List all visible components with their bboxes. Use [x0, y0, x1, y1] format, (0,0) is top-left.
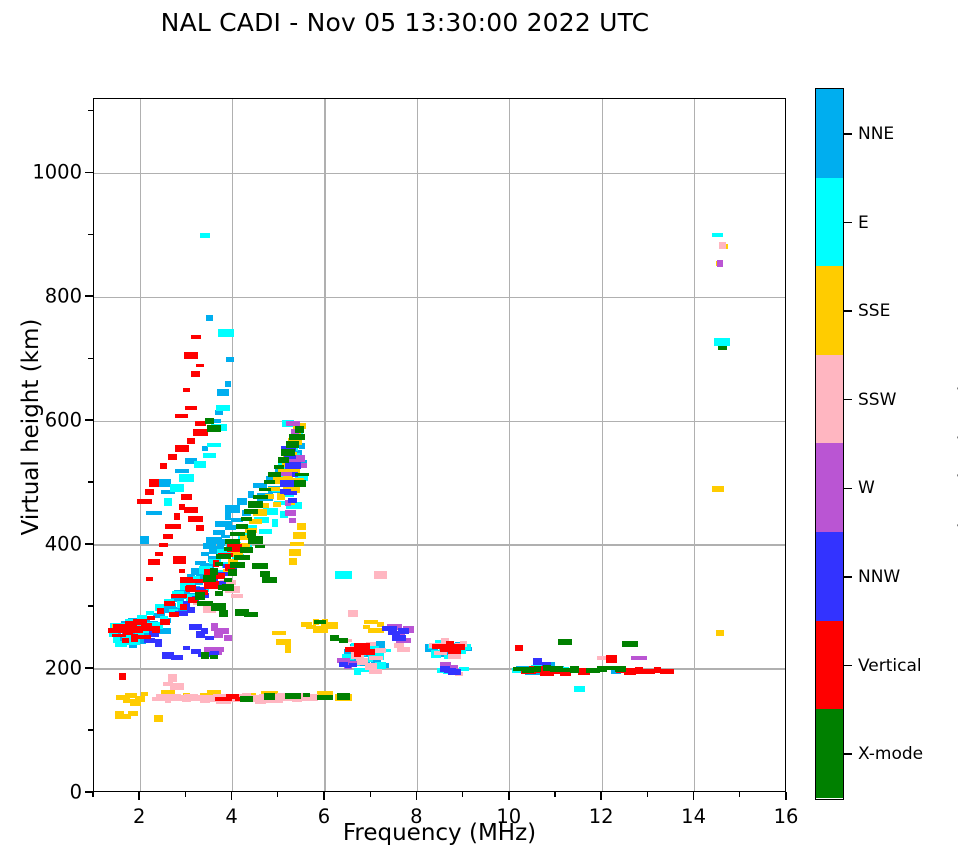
scatter-point [159, 543, 168, 547]
scatter-point [286, 421, 300, 426]
scatter-point [240, 547, 254, 553]
scatter-point [218, 628, 230, 634]
scatter-point [184, 352, 198, 359]
scatter-point [264, 693, 276, 699]
colorbar [815, 88, 844, 800]
scatter-point [398, 628, 410, 634]
colorbar-segment-vertical [816, 621, 843, 710]
scatter-point [244, 612, 259, 616]
scatter-point [181, 494, 192, 500]
scatter-point [183, 646, 190, 650]
scatter-point [397, 647, 410, 653]
scatter-point [285, 693, 301, 699]
scatter-point [317, 695, 333, 700]
scatter-point [252, 563, 268, 569]
colorbar-tick [844, 222, 852, 224]
scatter-point [175, 445, 189, 453]
colorbar-label-nne: NNE [858, 124, 894, 144]
scatter-point [180, 604, 187, 611]
scatter-point [289, 518, 296, 523]
scatter-point [276, 639, 292, 646]
scatter-point [175, 469, 189, 473]
scatter-point [717, 260, 723, 267]
colorbar-tick [844, 753, 852, 755]
y-tick-minor [88, 110, 93, 111]
scatter-point [168, 454, 177, 460]
colorbar-segment-nne [816, 89, 843, 178]
scatter-point [140, 536, 149, 544]
colorbar-label-w: W [858, 478, 875, 498]
x-tick-major [231, 792, 233, 800]
scatter-point [574, 686, 585, 693]
scatter-point [146, 577, 152, 581]
scatter-point [174, 513, 181, 521]
scatter-point [203, 453, 216, 458]
scatter-point [226, 357, 234, 362]
scatter-point [262, 577, 277, 584]
scatter-point [348, 610, 358, 617]
ionogram-figure: NAL CADI - Nov 05 13:30:00 2022 UTC 0200… [0, 0, 958, 857]
colorbar-tick [844, 488, 852, 490]
scatter-point [314, 620, 326, 625]
y-tick-major [85, 667, 93, 669]
scatter-point [188, 516, 203, 522]
scatter-point [289, 549, 301, 556]
scatter-point [164, 601, 175, 607]
x-tick-major [323, 792, 325, 800]
scatter-point [281, 449, 295, 456]
x-tick-major [508, 792, 510, 800]
y-axis-title: Virtual height (km) [18, 80, 44, 774]
scatter-point [215, 410, 223, 416]
scatter-point [168, 674, 177, 682]
scatter-point [288, 498, 298, 503]
y-tick-major [85, 172, 93, 174]
scatter-point [204, 581, 220, 589]
x-tick-minor [739, 792, 740, 797]
x-tick-minor [370, 792, 371, 797]
scatter-point [714, 338, 730, 345]
scatter-point [160, 619, 171, 624]
scatter-point [191, 335, 201, 339]
scatter-point [186, 585, 196, 592]
scatter-point [170, 484, 184, 492]
scatter-point [175, 414, 188, 418]
scatter-point [217, 389, 229, 396]
scatter-point [215, 562, 223, 566]
y-tick-minor [88, 729, 93, 730]
colorbar-label-ssw: SSW [858, 390, 896, 410]
y-tick-minor [88, 234, 93, 235]
scatter-point [303, 693, 311, 698]
scatter-point [189, 624, 202, 630]
scatter-point [718, 346, 727, 350]
scatter-point [170, 683, 184, 690]
scatter-point [228, 569, 237, 576]
scatter-point [122, 638, 130, 643]
scatter-point [606, 655, 617, 662]
scatter-point [184, 507, 198, 513]
scatter-point [173, 556, 185, 564]
scatter-point [149, 479, 159, 487]
scatter-point [160, 463, 167, 470]
x-tick-major [600, 792, 602, 800]
scatter-point [155, 552, 163, 556]
scatter-point [234, 555, 250, 561]
scatter-point [273, 502, 281, 507]
scatter-point [615, 666, 627, 672]
y-tick-minor [88, 481, 93, 482]
scatter-point [369, 656, 383, 660]
scatter-point [515, 645, 523, 651]
scatter-point [293, 532, 305, 539]
y-tick-label: 200 [45, 657, 82, 680]
scatter-point [225, 525, 236, 530]
scatter-point [290, 542, 304, 546]
scatter-point [146, 511, 162, 516]
scatter-point [285, 462, 301, 469]
y-tick-major [85, 543, 93, 545]
scatter-point [285, 645, 292, 653]
colorbar-segment-nnw [816, 532, 843, 621]
scatter-point [392, 635, 405, 641]
scatter-point [201, 652, 209, 658]
y-tick-label: 400 [45, 533, 82, 556]
scatter-point [157, 608, 164, 615]
scatter-point [259, 488, 272, 492]
scatter-point [719, 242, 726, 249]
colorbar-segment-sse [816, 266, 843, 355]
scatter-point [294, 480, 306, 487]
scatter-point [448, 669, 461, 675]
scatter-point [339, 638, 349, 643]
scatter-point [534, 666, 542, 673]
scatter-point [169, 612, 179, 617]
scatter-point [144, 638, 154, 643]
scatter-point [660, 669, 675, 674]
scatter-point [622, 641, 638, 647]
scatter-point [297, 523, 306, 529]
x-tick-minor [277, 792, 278, 797]
scatter-data-layer [94, 99, 785, 791]
scatter-point [295, 426, 304, 433]
scatter-point [145, 489, 155, 496]
colorbar-label-e: E [858, 213, 869, 233]
scatter-point [453, 644, 465, 650]
scatter-point [154, 715, 164, 723]
colorbar-tick [844, 665, 852, 667]
chart-title: NAL CADI - Nov 05 13:30:00 2022 UTC [0, 8, 810, 37]
scatter-point [135, 635, 151, 639]
scatter-point [193, 429, 208, 436]
y-tick-label: 0 [70, 781, 82, 804]
x-tick-major [416, 792, 418, 800]
scatter-point [163, 534, 172, 539]
scatter-point [137, 499, 152, 504]
scatter-point [284, 491, 298, 496]
scatter-point [197, 601, 213, 607]
y-tick-label: 600 [45, 409, 82, 432]
scatter-point [179, 569, 185, 574]
y-tick-label: 800 [45, 285, 82, 308]
x-tick-major [785, 792, 787, 800]
y-tick-major [85, 419, 93, 421]
scatter-point [141, 692, 148, 696]
scatter-point [194, 461, 206, 468]
scatter-point [224, 547, 232, 551]
scatter-point [200, 233, 211, 238]
scatter-point [642, 669, 654, 674]
colorbar-segment-ssw [816, 355, 843, 444]
scatter-point [335, 571, 351, 579]
scatter-point [533, 658, 542, 665]
scatter-point [230, 562, 245, 567]
scatter-point [205, 418, 214, 424]
scatter-point [205, 636, 214, 640]
x-tick-minor [554, 792, 555, 797]
scatter-point [224, 578, 231, 582]
colorbar-segment-e [816, 178, 843, 267]
colorbar-segment-w [816, 443, 843, 532]
scatter-point [165, 524, 181, 529]
scatter-point [712, 486, 724, 492]
x-tick-minor [185, 792, 186, 797]
scatter-point [278, 457, 289, 463]
scatter-point [210, 568, 219, 575]
colorbar-label-sse: SSE [858, 301, 890, 321]
scatter-point [349, 663, 357, 667]
scatter-point [183, 388, 190, 392]
scatter-point [180, 577, 193, 582]
colorbar-tick [844, 576, 852, 578]
scatter-point [248, 501, 264, 508]
scatter-point [230, 532, 245, 536]
scatter-point [631, 656, 647, 661]
y-tick-minor [88, 358, 93, 359]
scatter-point [191, 371, 200, 376]
scatter-point [155, 639, 163, 647]
x-tick-minor [647, 792, 648, 797]
scatter-point [289, 434, 305, 440]
colorbar-label-vertical: Vertical [858, 656, 922, 676]
scatter-point [272, 519, 278, 526]
scatter-point [119, 673, 126, 680]
scatter-point [382, 626, 397, 631]
scatter-point [219, 610, 229, 617]
scatter-point [369, 669, 382, 674]
scatter-point [207, 443, 221, 447]
scatter-point [255, 545, 265, 549]
scatter-point [225, 539, 239, 545]
scatter-point [712, 233, 722, 237]
scatter-point [244, 509, 258, 514]
x-tick-major [138, 792, 140, 800]
colorbar-labels: NNEESSESSWWNNWVerticalX-mode [844, 88, 958, 800]
scatter-point [337, 693, 350, 701]
scatter-point [222, 584, 234, 591]
scatter-point [231, 594, 243, 599]
scatter-point [374, 571, 387, 579]
scatter-point [330, 635, 339, 642]
colorbar-label-x-mode: X-mode [858, 744, 923, 764]
scatter-point [272, 631, 286, 635]
colorbar-tick [844, 310, 852, 312]
scatter-point [164, 498, 171, 506]
x-tick-minor [462, 792, 463, 797]
scatter-point [218, 329, 234, 337]
scatter-point [152, 626, 160, 633]
scatter-point [203, 575, 216, 582]
scatter-point [210, 655, 218, 659]
y-tick-major [85, 295, 93, 297]
scatter-point [185, 406, 197, 410]
scatter-point [295, 473, 309, 477]
scatter-point [195, 592, 205, 600]
scatter-point [187, 607, 195, 613]
scatter-point [236, 524, 248, 529]
colorbar-tick [844, 399, 852, 401]
scatter-point [216, 554, 230, 560]
scatter-point [146, 611, 154, 615]
scatter-point [716, 630, 724, 637]
scatter-point [289, 558, 297, 565]
scatter-point [215, 591, 223, 597]
scatter-point [570, 666, 579, 673]
scatter-point [268, 472, 281, 477]
colorbar-tick [844, 133, 852, 135]
scatter-point [171, 655, 184, 660]
scatter-point [286, 441, 299, 448]
scatter-point [148, 559, 161, 565]
scatter-point [196, 364, 204, 368]
colorbar-segment-x-mode [816, 709, 843, 798]
x-tick-minor [92, 792, 93, 797]
scatter-point [216, 405, 230, 411]
scatter-point [147, 616, 155, 620]
scatter-point [224, 635, 232, 641]
scatter-point [135, 696, 145, 702]
scatter-point [358, 649, 374, 655]
scatter-point [225, 505, 241, 513]
x-axis-title: Frequency (MHz) [93, 820, 786, 846]
scatter-point [171, 594, 187, 599]
scatter-point [253, 495, 269, 499]
scatter-point [217, 539, 224, 546]
scatter-point [274, 465, 284, 469]
scatter-point [264, 480, 276, 484]
colorbar-label-nnw: NNW [858, 567, 900, 587]
scatter-point [207, 425, 221, 432]
scatter-point [240, 696, 252, 702]
scatter-point [248, 536, 262, 544]
scatter-point [179, 474, 195, 482]
scatter-point [141, 623, 152, 630]
y-tick-minor [88, 605, 93, 606]
scatter-point [196, 525, 204, 531]
scatter-point [522, 667, 534, 673]
scatter-point [123, 697, 130, 703]
scatter-point [285, 510, 296, 516]
scatter-point [225, 381, 231, 387]
scatter-point [128, 711, 138, 716]
x-tick-major [693, 792, 695, 800]
scatter-point [187, 438, 195, 444]
scatter-point [206, 315, 213, 321]
plot-area [93, 98, 786, 792]
scatter-point [241, 517, 252, 521]
scatter-point [237, 498, 248, 505]
scatter-point [201, 628, 208, 634]
scatter-point [375, 648, 385, 654]
scatter-point [558, 639, 572, 645]
scatter-point [259, 529, 272, 534]
